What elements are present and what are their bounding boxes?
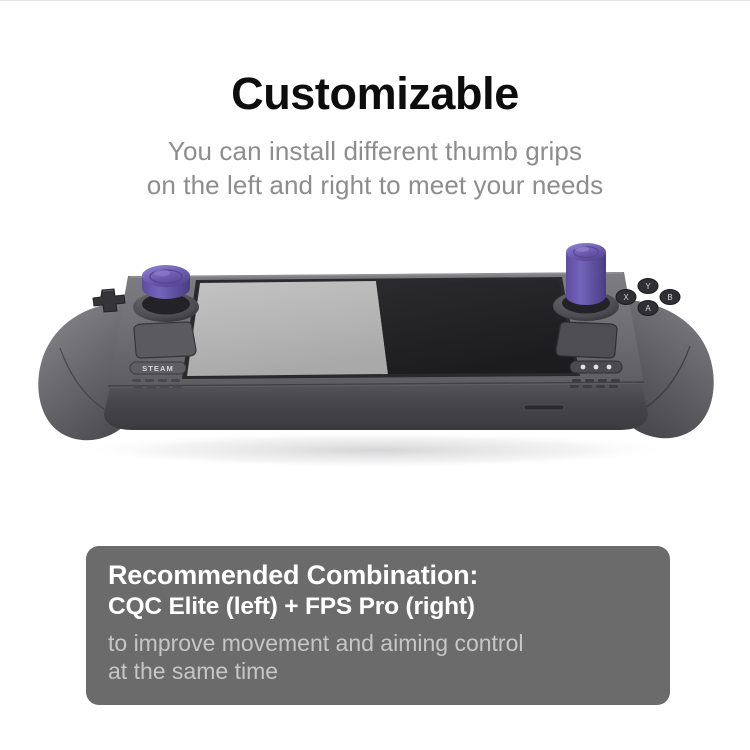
- product-feature-page: Customizable You can install different t…: [0, 0, 750, 750]
- qam-dot-3: [607, 365, 612, 370]
- button-a-label: A: [645, 304, 651, 313]
- steam-button[interactable]: STEAM: [130, 362, 186, 374]
- quick-access-button[interactable]: [570, 361, 622, 373]
- button-x[interactable]: X: [616, 290, 636, 305]
- right-trackpad[interactable]: [556, 322, 617, 358]
- steam-deck-device: STEAM: [0, 228, 750, 478]
- button-b[interactable]: B: [660, 290, 680, 305]
- left-trackpad[interactable]: [134, 322, 196, 358]
- callout-description-line-1: to improve movement and aiming control: [108, 629, 650, 657]
- subtitle-line-1: You can install different thumb grips: [0, 136, 750, 167]
- callout-description-line-2: at the same time: [108, 657, 650, 685]
- dpad-highlight: [103, 290, 113, 291]
- callout-title: Recommended Combination:: [108, 560, 650, 591]
- right-cap-top: [566, 243, 606, 261]
- button-a[interactable]: A: [638, 301, 658, 316]
- steam-button-label: STEAM: [142, 364, 174, 373]
- button-x-label: X: [623, 293, 629, 302]
- left-cap-highlight: [154, 270, 170, 277]
- top-divider: [0, 0, 750, 1]
- button-y[interactable]: Y: [638, 279, 658, 294]
- qam-dot-2: [594, 365, 599, 370]
- qam-dot-1: [581, 365, 586, 370]
- page-title: Customizable: [0, 68, 750, 120]
- screen-dark-region: [376, 280, 576, 374]
- button-y-label: Y: [645, 282, 651, 291]
- callout-combination: CQC Elite (left) + FPS Pro (right): [108, 592, 650, 621]
- right-cap-highlight: [575, 246, 589, 252]
- recommended-combination-callout: Recommended Combination: CQC Elite (left…: [86, 546, 670, 705]
- subtitle-line-2: on the left and right to meet your needs: [0, 170, 750, 201]
- card-slot: [524, 405, 564, 410]
- device-shadow: [75, 432, 675, 468]
- screen-glare-region: [187, 281, 388, 376]
- button-b-label: B: [667, 293, 672, 302]
